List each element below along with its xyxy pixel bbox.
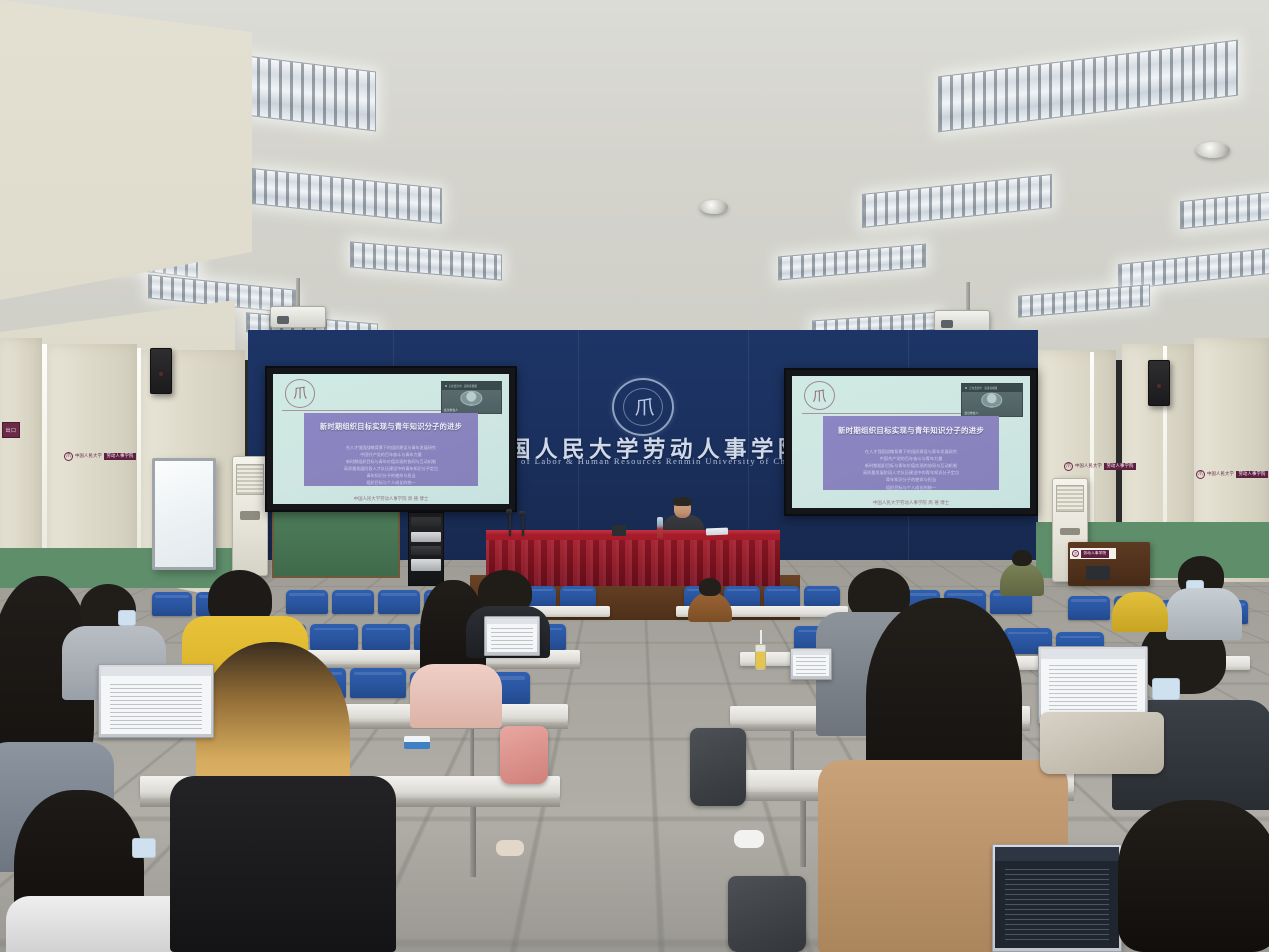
lectern-banner: 爪 劳动人事学院 [1070, 548, 1116, 559]
laptop-document-text [491, 626, 533, 649]
ceiling-light [252, 168, 442, 224]
placard-logo-icon: 爪 [1064, 462, 1073, 471]
projection-screen-left: 爪 正在会议中 · 演讲者视图 会议参会人 新时期组织目标实现与青年知识分子的进… [265, 366, 517, 512]
tissue-pack [404, 736, 430, 749]
air-conditioner [232, 456, 268, 576]
video-tile-label: 正在会议中 · 演讲者视图 [969, 386, 997, 390]
slide-bullet-line: 组织目标与个人成长的统一 [886, 485, 936, 490]
lectern-laptop[interactable] [1086, 566, 1110, 580]
audience-person-torso [1166, 588, 1242, 640]
slide-bullet-line: 组织目标与个人成长的统一 [366, 480, 415, 486]
slide-bullet-list: 在人才强国战略背景下的组织建设与青年发展研究中国共产党的百年奋斗与青年力量新时期… [311, 445, 472, 486]
slide-title: 新时期组织目标实现与青年知识分子的进步 [311, 422, 472, 432]
auditorium-seat[interactable] [804, 586, 840, 606]
ceiling-light [1118, 248, 1269, 290]
placard-badge: 劳动人事学院 [1104, 463, 1136, 470]
lecture-hall-photo: 爪 中国人民大学劳动人事学院 School of Labor & Human R… [0, 0, 1269, 952]
rack-unit [411, 559, 441, 571]
participant-name: 会议参会人 [444, 408, 458, 412]
slide-bullet-line: 新时期组织目标与青年价值实现的协同与互动机制 [346, 459, 436, 465]
ceiling-projector [270, 306, 326, 328]
screen-surface: 爪 正在会议中 · 演讲者视图 会议参会人 新时期组织目标实现与青年知识分子的进… [273, 374, 509, 504]
face-mask [118, 610, 136, 626]
smoke-detector-icon [1196, 142, 1230, 158]
student-bag [500, 726, 548, 784]
audience-person-torso [170, 776, 396, 952]
auditorium-seat[interactable] [560, 586, 596, 606]
auditorium-seat[interactable] [378, 590, 420, 614]
placard-badge: 劳动人事学院 [104, 453, 136, 460]
student-backpack [690, 728, 746, 806]
left-wall [0, 0, 252, 300]
student-laptop[interactable] [98, 664, 214, 738]
slide-bullet-line: 在人才强国战略背景下的组织建设与青年发展研究 [346, 445, 436, 451]
wall-placard: 爪 中国人民大学 劳动人事学院 [64, 452, 136, 461]
video-conference-tile: 正在会议中 · 演讲者视图 会议参会人 [961, 383, 1023, 417]
audience-person-torso [1112, 592, 1168, 632]
slide-title: 新时期组织目标实现与青年知识分子的进步 [830, 425, 992, 436]
auditorium-seat[interactable] [152, 592, 192, 616]
laptop-screen [793, 651, 829, 676]
auditorium-seat[interactable] [332, 590, 374, 614]
student-backpack [728, 876, 806, 952]
slide-footer: 中国人民大学劳动人事学院 周 禧 博士 [273, 496, 509, 502]
microphone-stand [509, 514, 511, 536]
rack-unit [411, 517, 441, 526]
status-dot-icon [965, 387, 967, 389]
laptop-screen [1041, 649, 1145, 720]
ceiling-light [862, 174, 1052, 228]
ceiling-light [350, 241, 502, 280]
microphone-icon [519, 511, 525, 516]
smoke-detector-icon [700, 200, 728, 214]
student-laptop[interactable] [992, 844, 1122, 952]
student-laptop[interactable] [484, 616, 540, 656]
laptop-toolbar [1041, 649, 1145, 659]
wall-placard: 爪 中国人民大学 劳动人事学院 [1064, 462, 1136, 471]
video-tile-titlebar: 正在会议中 · 演讲者视图 [962, 384, 1022, 392]
university-emblem-icon: 爪 [612, 378, 674, 436]
projector-lens-icon [941, 320, 953, 328]
laptop-document-text [1005, 869, 1109, 940]
screen-surface: 爪 正在会议中 · 演讲者视图 会议参会人 新时期组织目标实现与青年知识分子的进… [792, 376, 1030, 508]
video-tile-titlebar: 正在会议中 · 演讲者视图 [442, 382, 501, 390]
ceiling-light [1180, 191, 1269, 230]
slide-bullet-line: 中国共产党的百年奋斗与青年力量 [360, 452, 421, 458]
auditorium-seat[interactable] [362, 624, 410, 650]
slide-bullet-list: 在人才强国战略背景下的组织建设与青年发展研究中国共产党的百年奋斗与青年力量新时期… [830, 449, 992, 489]
audience-person-hair [1118, 800, 1269, 952]
emblem-glyph: 爪 [635, 397, 652, 417]
slide-content-panel: 新时期组织目标实现与青年知识分子的进步 在人才强国战略背景下的组织建设与青年发展… [823, 416, 999, 490]
ac-control-panel [240, 511, 259, 519]
whiteboard[interactable] [152, 458, 216, 570]
ceiling-projector [934, 310, 990, 332]
video-tile-label: 正在会议中 · 演讲者视图 [449, 384, 477, 388]
wall-speaker [150, 348, 172, 394]
av-equipment-rack [408, 512, 444, 586]
slide-logo-icon: 爪 [285, 379, 316, 408]
banner-logo-icon: 爪 [1072, 550, 1079, 557]
audience-person-hair [1012, 550, 1032, 566]
desk-leg [470, 807, 476, 877]
slide-bullet-line: 在人才强国战略背景下的组织建设与青年发展研究 [865, 449, 957, 455]
laptop-toolbar [487, 619, 537, 624]
laptop-screen [101, 667, 211, 734]
presenter-hair [673, 497, 692, 506]
student-laptop[interactable] [790, 648, 832, 680]
presenter-laptop[interactable] [612, 525, 626, 536]
wall-speaker [1148, 360, 1170, 406]
wall-placard: 爪 中国人民大学 劳动人事学院 [1196, 470, 1268, 479]
microphone-stand [522, 516, 524, 536]
video-conference-tile: 正在会议中 · 演讲者视图 会议参会人 [441, 381, 502, 415]
slide-bullet-line: 青年知识分子的使命与担当 [366, 473, 415, 479]
slide-bullet-line: 青年知识分子的使命与担当 [886, 477, 936, 483]
laptop-document-text [110, 682, 202, 729]
placard-logo-text: 中国人民大学 [75, 454, 102, 458]
placard-logo-text: 中国人民大学 [1207, 472, 1234, 476]
status-dot-icon [445, 385, 447, 387]
auditorium-seat[interactable] [286, 590, 328, 614]
slide-bullet-line: 中国共产党的百年奋斗与青年力量 [880, 456, 943, 462]
participant-avatar [461, 391, 482, 406]
laptop-toolbar [793, 651, 829, 655]
laptop-document-text [1049, 665, 1136, 715]
audience-person-torso [410, 664, 502, 728]
ac-vent-grille [236, 464, 263, 495]
student-backpack [1040, 712, 1164, 774]
laptop-screen [995, 847, 1119, 948]
presentation-slide: 爪 正在会议中 · 演讲者视图 会议参会人 新时期组织目标实现与青年知识分子的进… [273, 374, 509, 504]
placard-logo-icon: 爪 [64, 452, 73, 461]
slide-bullet-line: 高质量发展阶段人才队伍建设中的青年知识分子定位 [863, 470, 959, 476]
desk-leg [470, 729, 474, 777]
participant-name: 会议参会人 [964, 411, 978, 415]
laptop-document-text [796, 657, 826, 675]
projector-mount [296, 278, 300, 306]
slide-logo-icon: 爪 [804, 381, 835, 410]
laptop-toolbar [101, 667, 211, 676]
rack-unit [411, 532, 441, 542]
slide-footer: 中国人民大学劳动人事学院 周 禧 博士 [792, 500, 1030, 506]
presenter-papers [706, 528, 728, 536]
slide-content-panel: 新时期组织目标实现与青年知识分子的进步 在人才强国战略背景下的组织建设与青年发展… [304, 413, 479, 486]
microphone-icon [506, 509, 512, 514]
emblem-inner-ring: 爪 [623, 388, 663, 426]
laptop-toolbar [995, 847, 1119, 861]
face-mask [1152, 678, 1180, 700]
ac-control-panel [1060, 528, 1079, 535]
ac-vent-grille [1056, 485, 1083, 512]
banner-badge: 劳动人事学院 [1081, 550, 1109, 558]
face-mask [132, 838, 156, 858]
ceiling-light [1018, 284, 1150, 318]
slide-bullet-line: 新时期组织目标与青年价值实现的协同与互动机制 [865, 463, 957, 469]
ceiling-light [938, 40, 1238, 133]
participant-avatar [981, 393, 1003, 408]
audience-shoe [496, 840, 524, 856]
slide-bullet-line: 高质量发展阶段人才队伍建设中的青年知识分子定位 [344, 466, 438, 472]
auditorium-seat[interactable] [350, 668, 406, 698]
laptop-screen [487, 619, 537, 652]
exit-sign-label: 出口 [5, 427, 16, 434]
drink-straw [760, 630, 762, 644]
audience-shoe [734, 830, 764, 848]
projection-screen-right: 爪 正在会议中 · 演讲者视图 会议参会人 新时期组织目标实现与青年知识分子的进… [784, 368, 1038, 516]
ceiling-light [778, 244, 926, 281]
rack-unit [411, 546, 441, 555]
green-chalkboard [272, 506, 400, 578]
projector-lens-icon [277, 316, 289, 324]
desk-leg [800, 801, 806, 867]
auditorium-seat[interactable] [1068, 596, 1110, 620]
presentation-slide: 爪 正在会议中 · 演讲者视图 会议参会人 新时期组织目标实现与青年知识分子的进… [792, 376, 1030, 508]
exit-sign: 出口 [2, 422, 20, 438]
audience-person-hair [699, 578, 721, 596]
placard-logo-text: 中国人民大学 [1075, 464, 1102, 468]
auditorium-seat[interactable] [764, 586, 800, 606]
drink-cup [755, 644, 766, 670]
auditorium-seat[interactable] [310, 624, 358, 650]
audience-person-torso [6, 896, 196, 952]
placard-logo-icon: 爪 [1196, 470, 1205, 479]
water-bottle [657, 517, 663, 538]
placard-badge: 劳动人事学院 [1236, 471, 1268, 478]
projector-mount [966, 282, 970, 310]
table-skirt [486, 540, 780, 586]
